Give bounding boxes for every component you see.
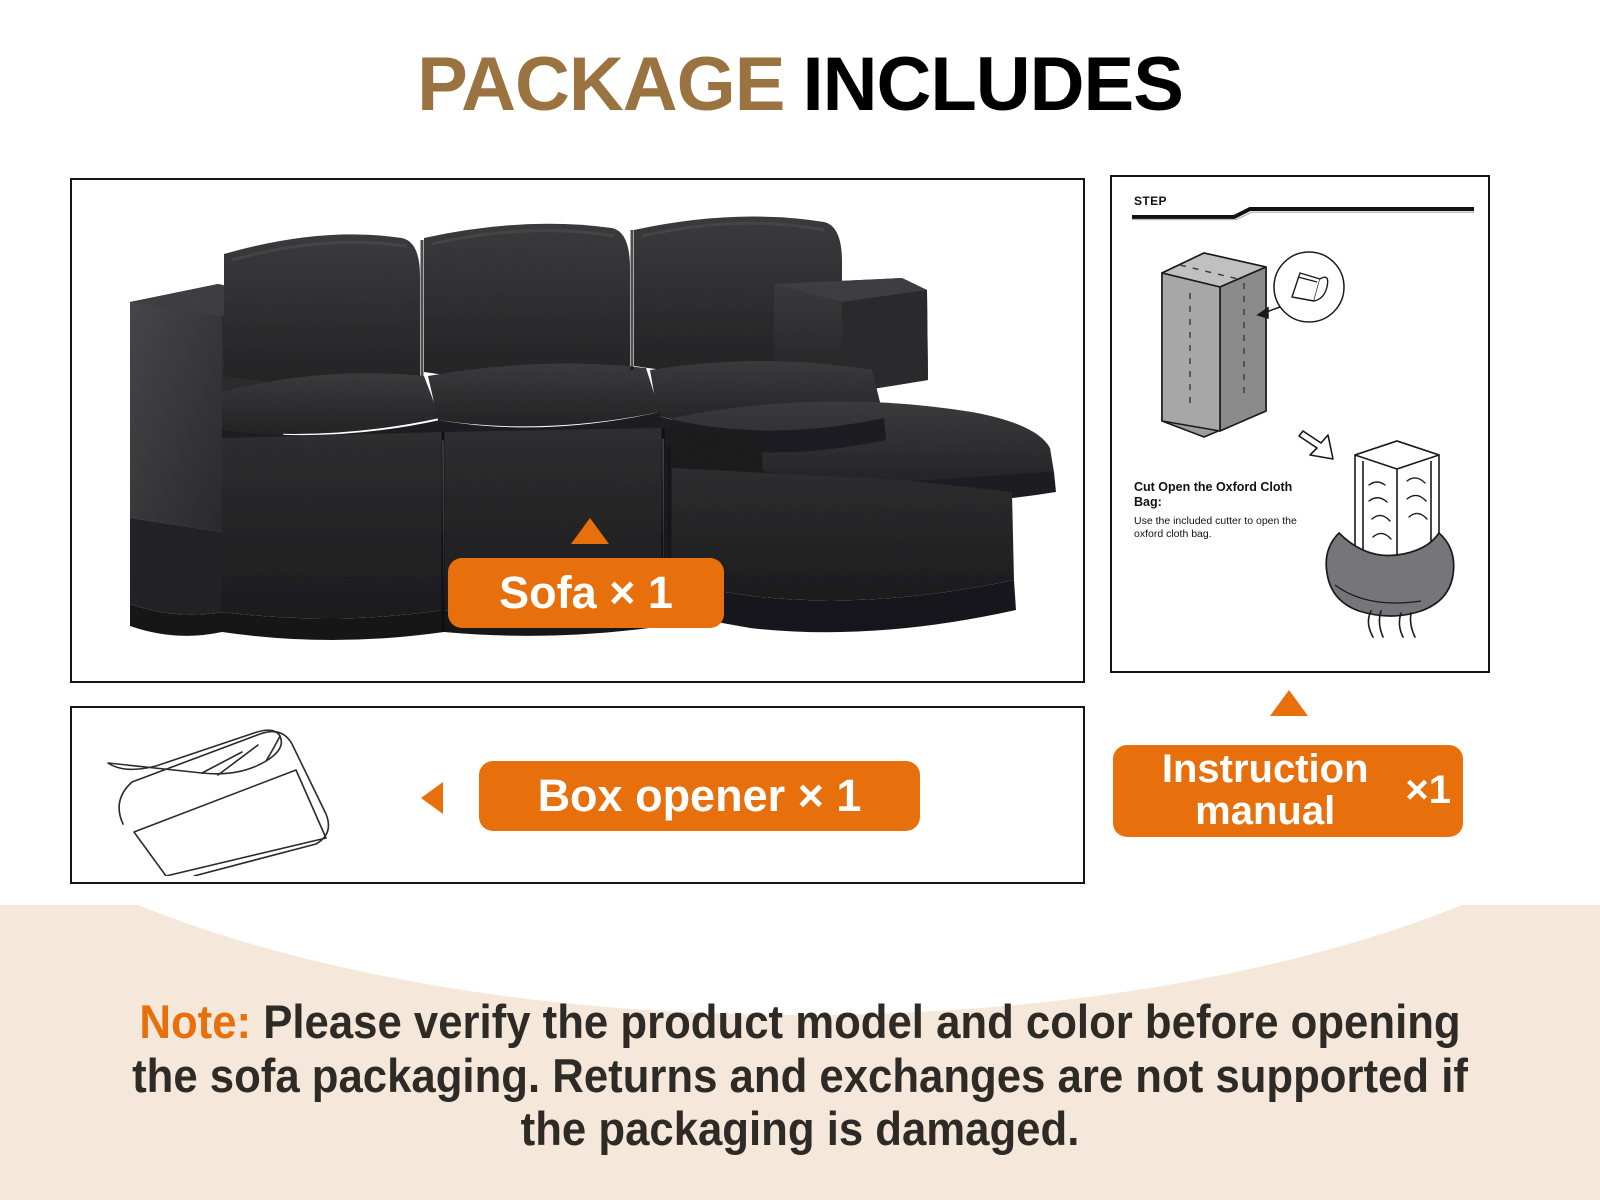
manual-caption-title: Cut Open the Oxford Cloth Bag: bbox=[1134, 480, 1309, 510]
manual-caption-body: Use the included cutter to open the oxfo… bbox=[1134, 515, 1314, 541]
page-title-part1: PACKAGE bbox=[417, 42, 784, 127]
instruction-manual-badge-label: Instruction manual bbox=[1129, 749, 1401, 832]
note-prefix: Note: bbox=[139, 995, 251, 1048]
manual-step-rule bbox=[1130, 207, 1474, 221]
note-block: Note: Please verify the product model an… bbox=[112, 995, 1488, 1156]
box-opener-badge[interactable]: Box opener × 1 bbox=[479, 761, 920, 831]
sofa-badge-label: Sofa × 1 bbox=[499, 570, 673, 616]
box-opener-badge-pointer-icon bbox=[421, 782, 443, 814]
instruction-manual-badge-count: ×1 bbox=[1405, 770, 1451, 813]
page-title: PACKAGEINCLUDES bbox=[0, 47, 1600, 123]
manual-step-label: STEP bbox=[1134, 194, 1167, 208]
note-body: Please verify the product model and colo… bbox=[132, 995, 1468, 1155]
manual-badge-pointer-icon bbox=[1270, 690, 1308, 716]
sofa-badge[interactable]: Sofa × 1 bbox=[448, 558, 724, 628]
box-opener-icon bbox=[90, 716, 350, 876]
instruction-manual-panel: STEP bbox=[1110, 175, 1490, 673]
instruction-manual-badge[interactable]: Instruction manual ×1 bbox=[1113, 745, 1463, 837]
manual-bag-removal-diagram bbox=[1297, 425, 1477, 640]
page-title-part2: INCLUDES bbox=[802, 42, 1182, 127]
box-opener-badge-label: Box opener × 1 bbox=[538, 773, 862, 819]
sofa-badge-pointer-icon bbox=[571, 518, 609, 544]
